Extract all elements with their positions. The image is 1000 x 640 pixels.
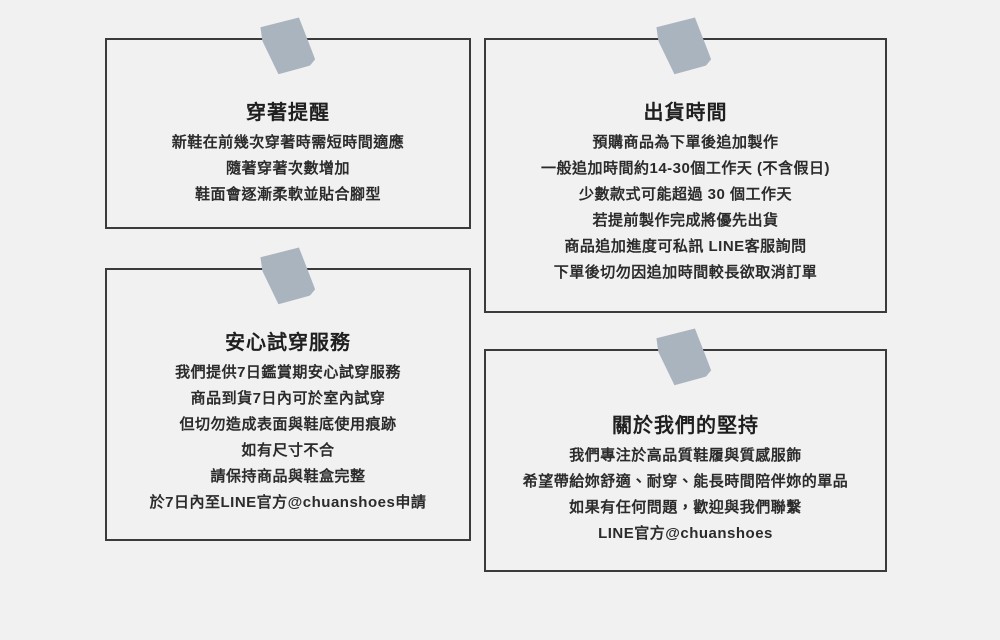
card-line: 若提前製作完成將優先出貨 — [486, 208, 885, 234]
card-line: 但切勿造成表面與鞋底使用痕跡 — [107, 412, 469, 438]
card-line: 請保持商品與鞋盒完整 — [107, 464, 469, 490]
card-line: 於7日內至LINE官方@chuanshoes申請 — [107, 490, 469, 516]
card-line: 希望帶給妳舒適、耐穿、能長時間陪伴妳的單品 — [486, 469, 885, 495]
card-line: 商品到貨7日內可於室內試穿 — [107, 386, 469, 412]
card-line: LINE官方@chuanshoes — [486, 521, 885, 547]
card-body: 我們專注於高品質鞋履與質感服飾 希望帶給妳舒適、耐穿、能長時間陪伴妳的單品 如果… — [486, 443, 885, 547]
card-title: 出貨時間 — [639, 103, 733, 123]
card-line: 下單後切勿因追加時間較長欲取消訂單 — [486, 260, 885, 286]
info-card-wear-reminder: 穿著提醒 新鞋在前幾次穿著時需短時間適應 隨著穿著次數增加 鞋面會逐漸柔軟並貼合… — [105, 38, 471, 229]
card-line: 鞋面會逐漸柔軟並貼合腳型 — [107, 182, 469, 208]
card-title: 安心試穿服務 — [220, 333, 356, 353]
card-body: 新鞋在前幾次穿著時需短時間適應 隨著穿著次數增加 鞋面會逐漸柔軟並貼合腳型 — [107, 130, 469, 208]
card-line: 如有尺寸不合 — [107, 438, 469, 464]
card-line: 商品追加進度可私訊 LINE客服詢問 — [486, 234, 885, 260]
washi-tape-icon — [653, 323, 712, 388]
card-line: 一般追加時間約14-30個工作天 (不含假日) — [486, 156, 885, 182]
info-card-shipping-time: 出貨時間 預購商品為下單後追加製作 一般追加時間約14-30個工作天 (不含假日… — [484, 38, 887, 313]
card-title: 穿著提醒 — [241, 103, 335, 123]
card-body: 我們提供7日鑑賞期安心試穿服務 商品到貨7日內可於室內試穿 但切勿造成表面與鞋底… — [107, 360, 469, 516]
card-line: 預購商品為下單後追加製作 — [486, 130, 885, 156]
card-line: 我們專注於高品質鞋履與質感服飾 — [486, 443, 885, 469]
washi-tape-icon — [653, 12, 712, 77]
card-line: 少數款式可能超過 30 個工作天 — [486, 182, 885, 208]
card-body: 預購商品為下單後追加製作 一般追加時間約14-30個工作天 (不含假日) 少數款… — [486, 130, 885, 286]
card-line: 新鞋在前幾次穿著時需短時間適應 — [107, 130, 469, 156]
info-card-about-us: 關於我們的堅持 我們專注於高品質鞋履與質感服飾 希望帶給妳舒適、耐穿、能長時間陪… — [484, 349, 887, 572]
info-cards-board: 穿著提醒 新鞋在前幾次穿著時需短時間適應 隨著穿著次數增加 鞋面會逐漸柔軟並貼合… — [0, 0, 1000, 640]
info-card-trial-service: 安心試穿服務 我們提供7日鑑賞期安心試穿服務 商品到貨7日內可於室內試穿 但切勿… — [105, 268, 471, 541]
washi-tape-icon — [257, 12, 316, 77]
card-line: 隨著穿著次數增加 — [107, 156, 469, 182]
card-line: 如果有任何問題，歡迎與我們聯繫 — [486, 495, 885, 521]
card-title: 關於我們的堅持 — [607, 416, 764, 436]
card-line: 我們提供7日鑑賞期安心試穿服務 — [107, 360, 469, 386]
washi-tape-icon — [257, 242, 316, 307]
